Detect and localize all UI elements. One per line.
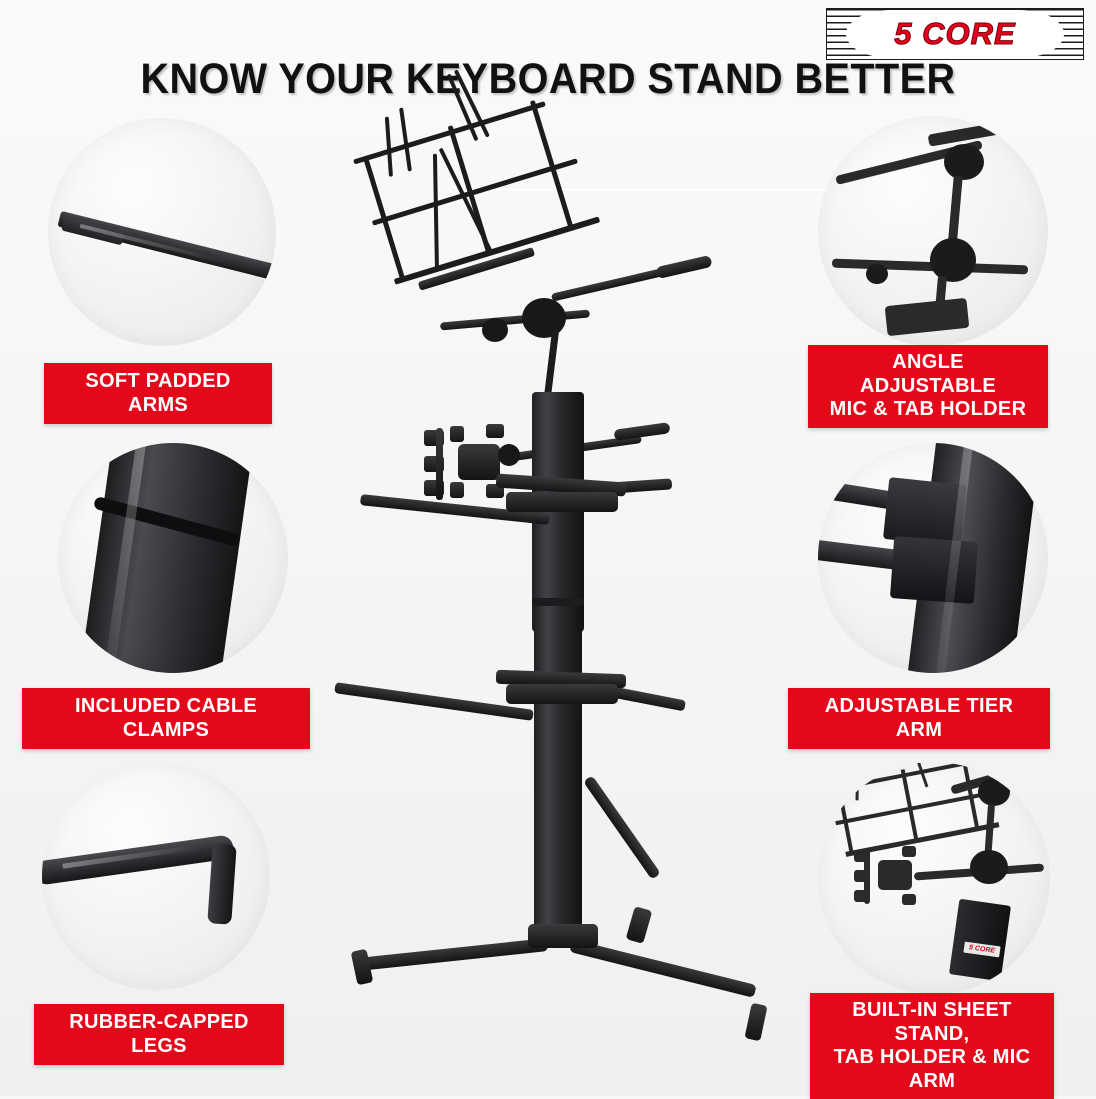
column-tube-icon [77,443,255,673]
mini-sheet-stand-frame-icon [828,762,1001,863]
mounting-bracket-icon [885,298,970,336]
infographic-canvas: 5 CORE KNOW YOUR KEYBOARD STAND BETTER [0,0,1096,1096]
mic-boom-arm-icon [835,140,983,185]
main-column-lower [534,600,582,930]
upper-mic-clip [655,255,712,279]
lower-mic-clip [614,422,671,441]
mic-shaft-icon [946,176,962,262]
callout-circle-rubber-capped-legs [42,762,270,990]
tier-crossbar-icon [832,259,1028,275]
tier-column-icon [905,443,1043,673]
padded-arm-bar-icon [57,211,276,281]
mini-cylinder-body-icon [949,899,1011,981]
mini-mic-knob-icon [978,778,1010,806]
padded-arm-tip-icon [61,217,125,246]
upper-tilt-knob [522,298,566,338]
angle-knob-upper-icon [944,144,984,180]
logo-text: 5 CORE [826,8,1084,60]
leg-bar-icon [42,834,235,886]
leg-rubber-cap-icon [207,843,237,924]
cable-clamp-strap-icon [93,496,241,547]
mic-lower-shaft-icon [934,276,947,323]
label-soft-padded-arms: SOFT PADDED ARMS [44,363,272,424]
upper-small-knob [482,318,508,342]
label-rubber-capped-legs: RUBBER-CAPPED LEGS [34,1004,284,1065]
mic-clip-icon [928,121,1007,146]
mini-center-knob-icon [970,850,1008,884]
tier-arm-lower-icon [818,539,945,576]
lower-small-knob [498,444,520,466]
mini-five-core-badge: 5 CORE [963,942,1000,958]
column-highlight [103,443,148,673]
mini-crossbar-icon [914,863,1044,880]
label-line-2: TAB HOLDER & MIC ARM [824,1046,1040,1093]
callout-circle-adjustable-tier-arm [818,443,1048,673]
label-included-cable-clamps: INCLUDED CABLE CLAMPS [22,688,310,749]
label-line-2: MIC & TAB HOLDER [822,398,1034,422]
label-built-in-sheet-stand: BUILT-IN SHEET STAND, TAB HOLDER & MIC A… [810,993,1054,1099]
upper-crossbar [440,309,590,330]
mini-mic-shaft-icon [984,804,995,862]
callout-circle-soft-padded-arms [48,118,276,346]
tier-bracket-lower-icon [890,536,978,604]
product-image-keyboard-stand: 5 CORE [300,100,820,1090]
five-core-logo: 5 CORE [826,8,1084,60]
label-line-1: BUILT-IN SHEET STAND, [824,999,1040,1046]
label-line-1: ANGLE ADJUSTABLE [822,351,1034,398]
callout-circle-angle-adjustable-mic-tab-holder [818,116,1048,346]
leg-highlight [62,844,201,868]
tier-bracket-plate-icon [883,477,967,547]
label-adjustable-tier-arm: ADJUSTABLE TIER ARM [788,688,1050,749]
label-angle-adjustable-mic-tab-holder: ANGLE ADJUSTABLE MIC & TAB HOLDER [808,345,1048,428]
column-collar [532,598,584,606]
callout-circle-included-cable-clamps [58,443,288,673]
padded-arm-highlight [80,224,227,264]
tier-arm-upper-icon [818,478,945,517]
angle-knob-side-icon [866,264,888,284]
callout-circle-built-in-sheet-stand: 5 CORE [818,762,1050,994]
mini-tab-holder-icon [854,846,924,908]
tier-column-highlight [934,443,975,673]
angle-knob-center-icon [930,238,976,282]
